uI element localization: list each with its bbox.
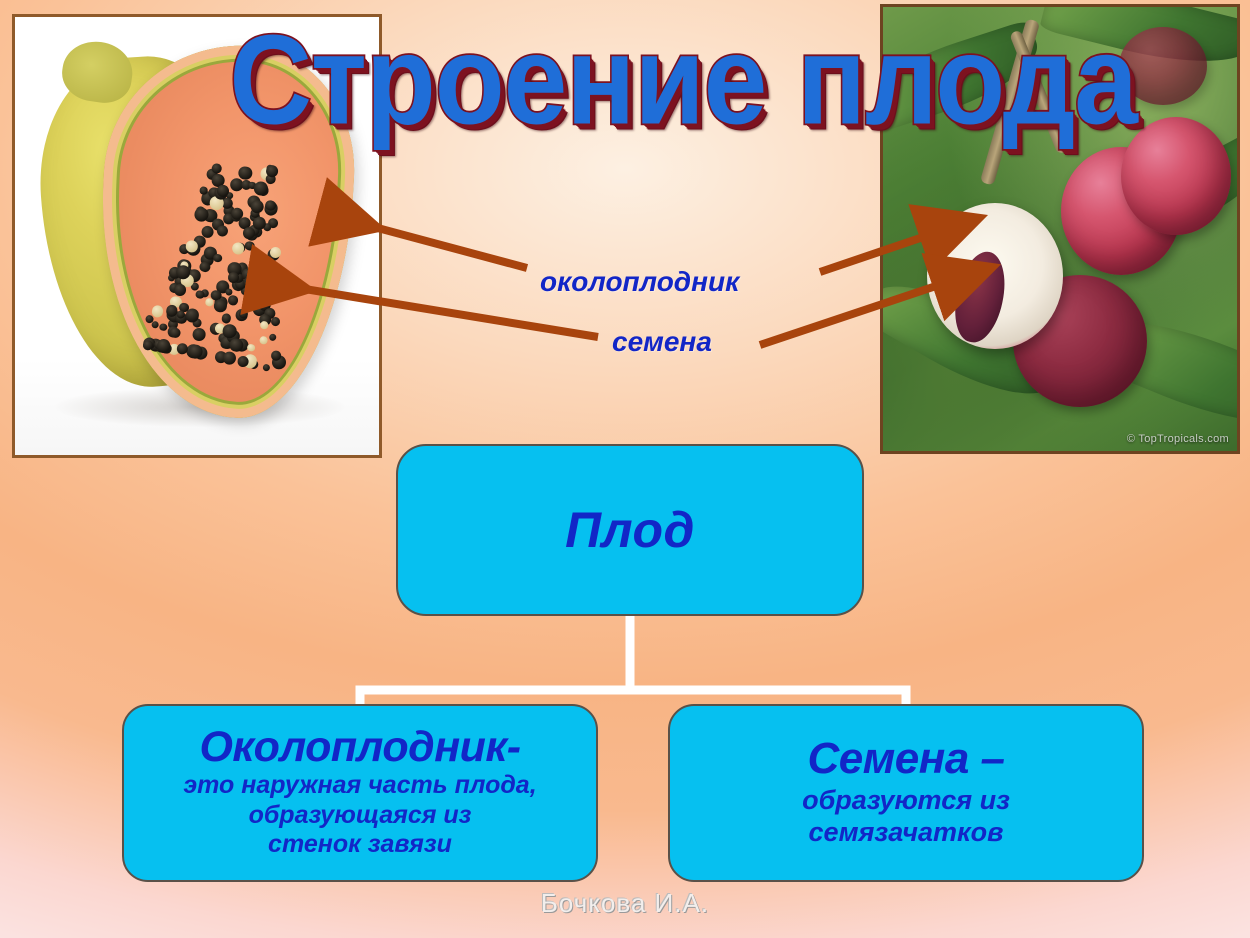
callout-label-pericarp: околоплодник	[540, 266, 739, 298]
photo-watermark: © TopTropicals.com	[1127, 433, 1229, 445]
node-desc-pericarp: это наружная часть плода, образующаяся и…	[183, 771, 536, 860]
papaya-seed	[169, 327, 181, 339]
author-credit: Бочкова И.А.	[0, 888, 1250, 919]
lychee-fruit	[1119, 27, 1207, 105]
node-desc-seeds: образуются из семязачатков	[802, 785, 1010, 849]
node-desc-line: семязачатков	[802, 817, 1010, 849]
papaya-seed	[239, 309, 249, 319]
papaya-seed	[195, 290, 205, 300]
papaya-seed	[269, 246, 282, 259]
papaya-photo	[12, 14, 382, 458]
lychee-image-canvas: © TopTropicals.com	[883, 7, 1237, 451]
papaya-seed	[262, 363, 271, 372]
papaya-seed	[269, 333, 277, 341]
papaya-seed	[213, 254, 222, 263]
papaya-seed	[211, 163, 222, 174]
node-box-seeds[interactable]: Семена – образуются из семязачатков	[668, 704, 1144, 882]
papaya-seed	[245, 241, 255, 251]
lychee-fruit	[1121, 117, 1231, 235]
papaya-seed	[213, 298, 227, 312]
papaya-seed	[259, 336, 268, 345]
papaya-seed	[159, 323, 168, 332]
node-desc-line: образуются из	[802, 785, 1010, 817]
node-desc-line: образующаяся из	[183, 801, 536, 831]
node-box-pericarp[interactable]: Околоплодник- это наружная часть плода, …	[122, 704, 598, 882]
connector-tree	[360, 616, 906, 706]
papaya-seed	[199, 186, 207, 194]
papaya-seed	[227, 295, 238, 306]
papaya-seed	[250, 250, 263, 263]
callout-label-seeds: семена	[612, 326, 712, 358]
papaya-seed	[260, 320, 269, 329]
node-desc-line: это наружная часть плода,	[183, 771, 536, 801]
slide-canvas: © TopTropicals.com Строение плода околоп…	[0, 0, 1250, 938]
node-head-pericarp: Околоплодник-	[199, 726, 520, 769]
node-box-fruit[interactable]: Плод	[396, 444, 864, 616]
papaya-seed	[216, 225, 229, 238]
papaya-seed	[247, 343, 256, 352]
node-desc-line: стенок завязи	[183, 830, 536, 860]
papaya-image-canvas	[15, 17, 379, 455]
node-title-fruit: Плод	[565, 501, 695, 559]
papaya-seed	[151, 305, 164, 318]
papaya-seed	[222, 351, 237, 366]
papaya-seed	[275, 289, 285, 299]
node-head-seeds: Семена –	[807, 737, 1004, 781]
papaya-seed	[267, 264, 278, 275]
lychee-photo: © TopTropicals.com	[880, 4, 1240, 454]
papaya-seed	[265, 164, 279, 178]
papaya-seed	[192, 327, 207, 342]
papaya-seed	[221, 313, 232, 324]
